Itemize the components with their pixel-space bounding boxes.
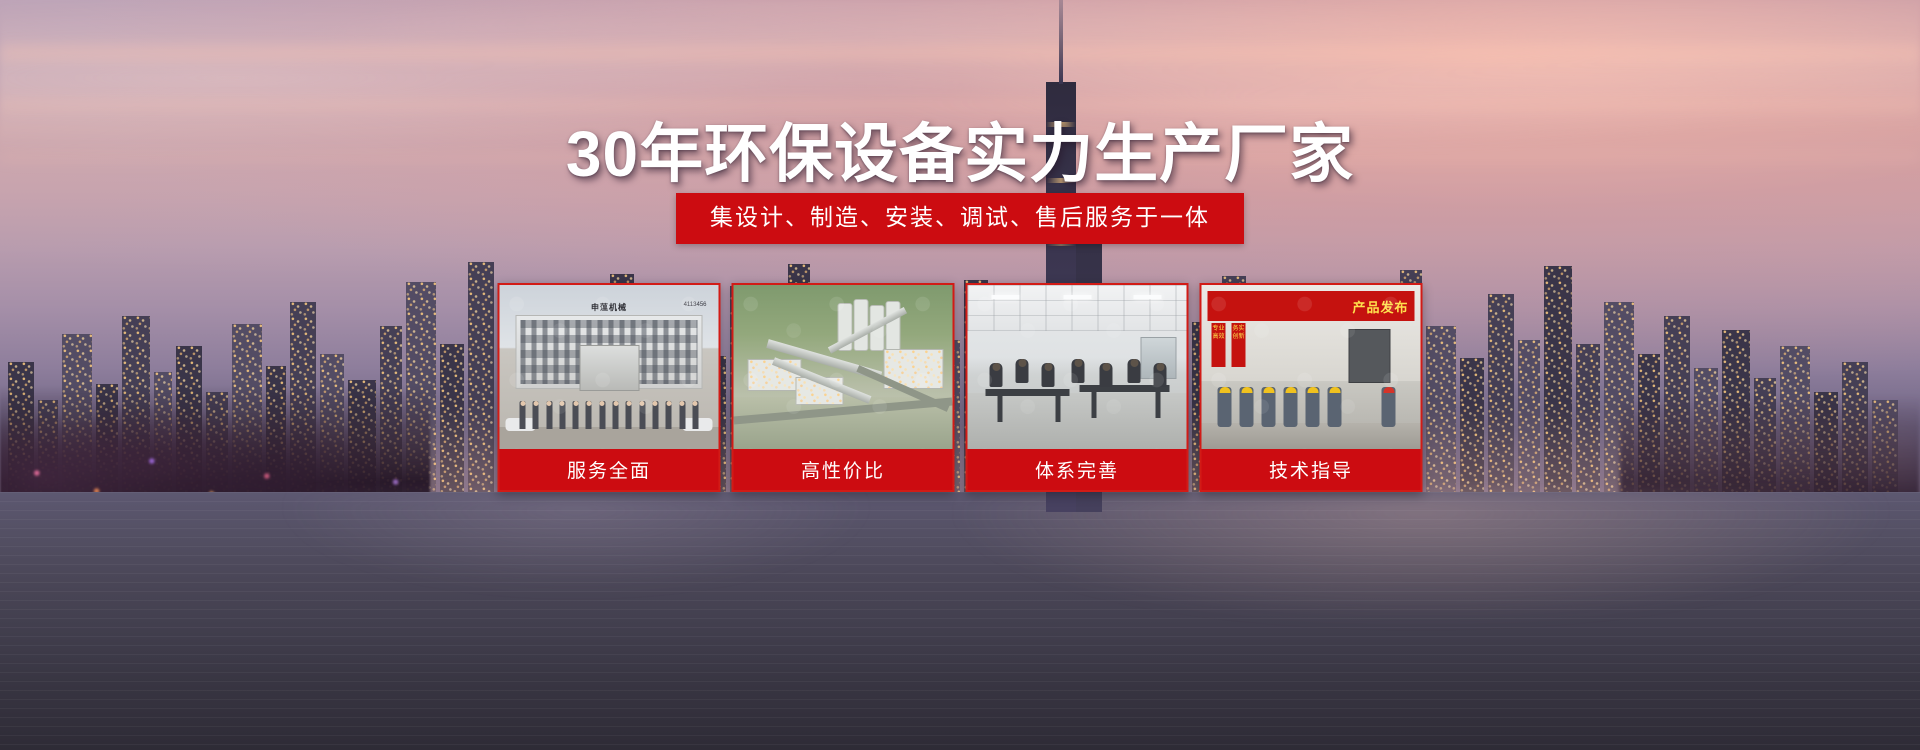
feature-card[interactable]: 产品发布 专业 高效 务实 创新 技术指导 <box>1200 283 1423 492</box>
building-sign-text: 申蕰机械 <box>591 302 627 313</box>
workshop-workers-photo: 产品发布 专业 高效 务实 创新 <box>1202 285 1421 449</box>
workshop-banner-text: 产品发布 <box>1352 297 1408 316</box>
card-caption-bar: 服务全面 <box>500 449 719 490</box>
workshop-side-banner: 专业 高效 <box>1212 323 1226 367</box>
workshop-side-banner: 务实 创新 <box>1232 323 1246 367</box>
workshop-side-text-1: 专业 高效 <box>1212 323 1226 341</box>
hero-banner: 30年环保设备实力生产厂家 集设计、制造、安装、调试、售后服务于一体 申蕰机械 … <box>0 0 1920 750</box>
water-ripples <box>0 492 1920 750</box>
office-interior-team-photo <box>968 285 1187 449</box>
card-caption-text: 高性价比 <box>801 456 885 483</box>
card-caption-bar: 体系完善 <box>968 449 1187 490</box>
card-caption-text: 体系完善 <box>1035 456 1119 483</box>
card-caption-text: 服务全面 <box>567 456 651 483</box>
feature-card[interactable]: 申蕰机械 4113456 服务全面 <box>498 283 721 492</box>
card-caption-bar: 技术指导 <box>1202 449 1421 490</box>
feature-card[interactable]: 高性价比 <box>732 283 955 492</box>
building-sign-phone: 4113456 <box>684 302 707 308</box>
workshop-red-banner: 产品发布 <box>1208 291 1415 321</box>
card-caption-text: 技术指导 <box>1269 456 1353 483</box>
company-headquarters-photo: 申蕰机械 4113456 <box>500 285 719 449</box>
aerial-factory-plant-photo <box>734 285 953 449</box>
sky-streak <box>0 40 1920 66</box>
feature-card-row: 申蕰机械 4113456 服务全面 <box>498 283 1423 492</box>
feature-card: 体系完善 <box>966 283 1189 492</box>
subtitle-banner: 集设计、制造、安装、调试、售后服务于一体 <box>676 193 1244 244</box>
subtitle-text: 集设计、制造、安装、调试、售后服务于一体 <box>710 204 1210 230</box>
card-caption-bar: 高性价比 <box>734 449 953 490</box>
workshop-side-text-2: 务实 创新 <box>1232 323 1246 341</box>
